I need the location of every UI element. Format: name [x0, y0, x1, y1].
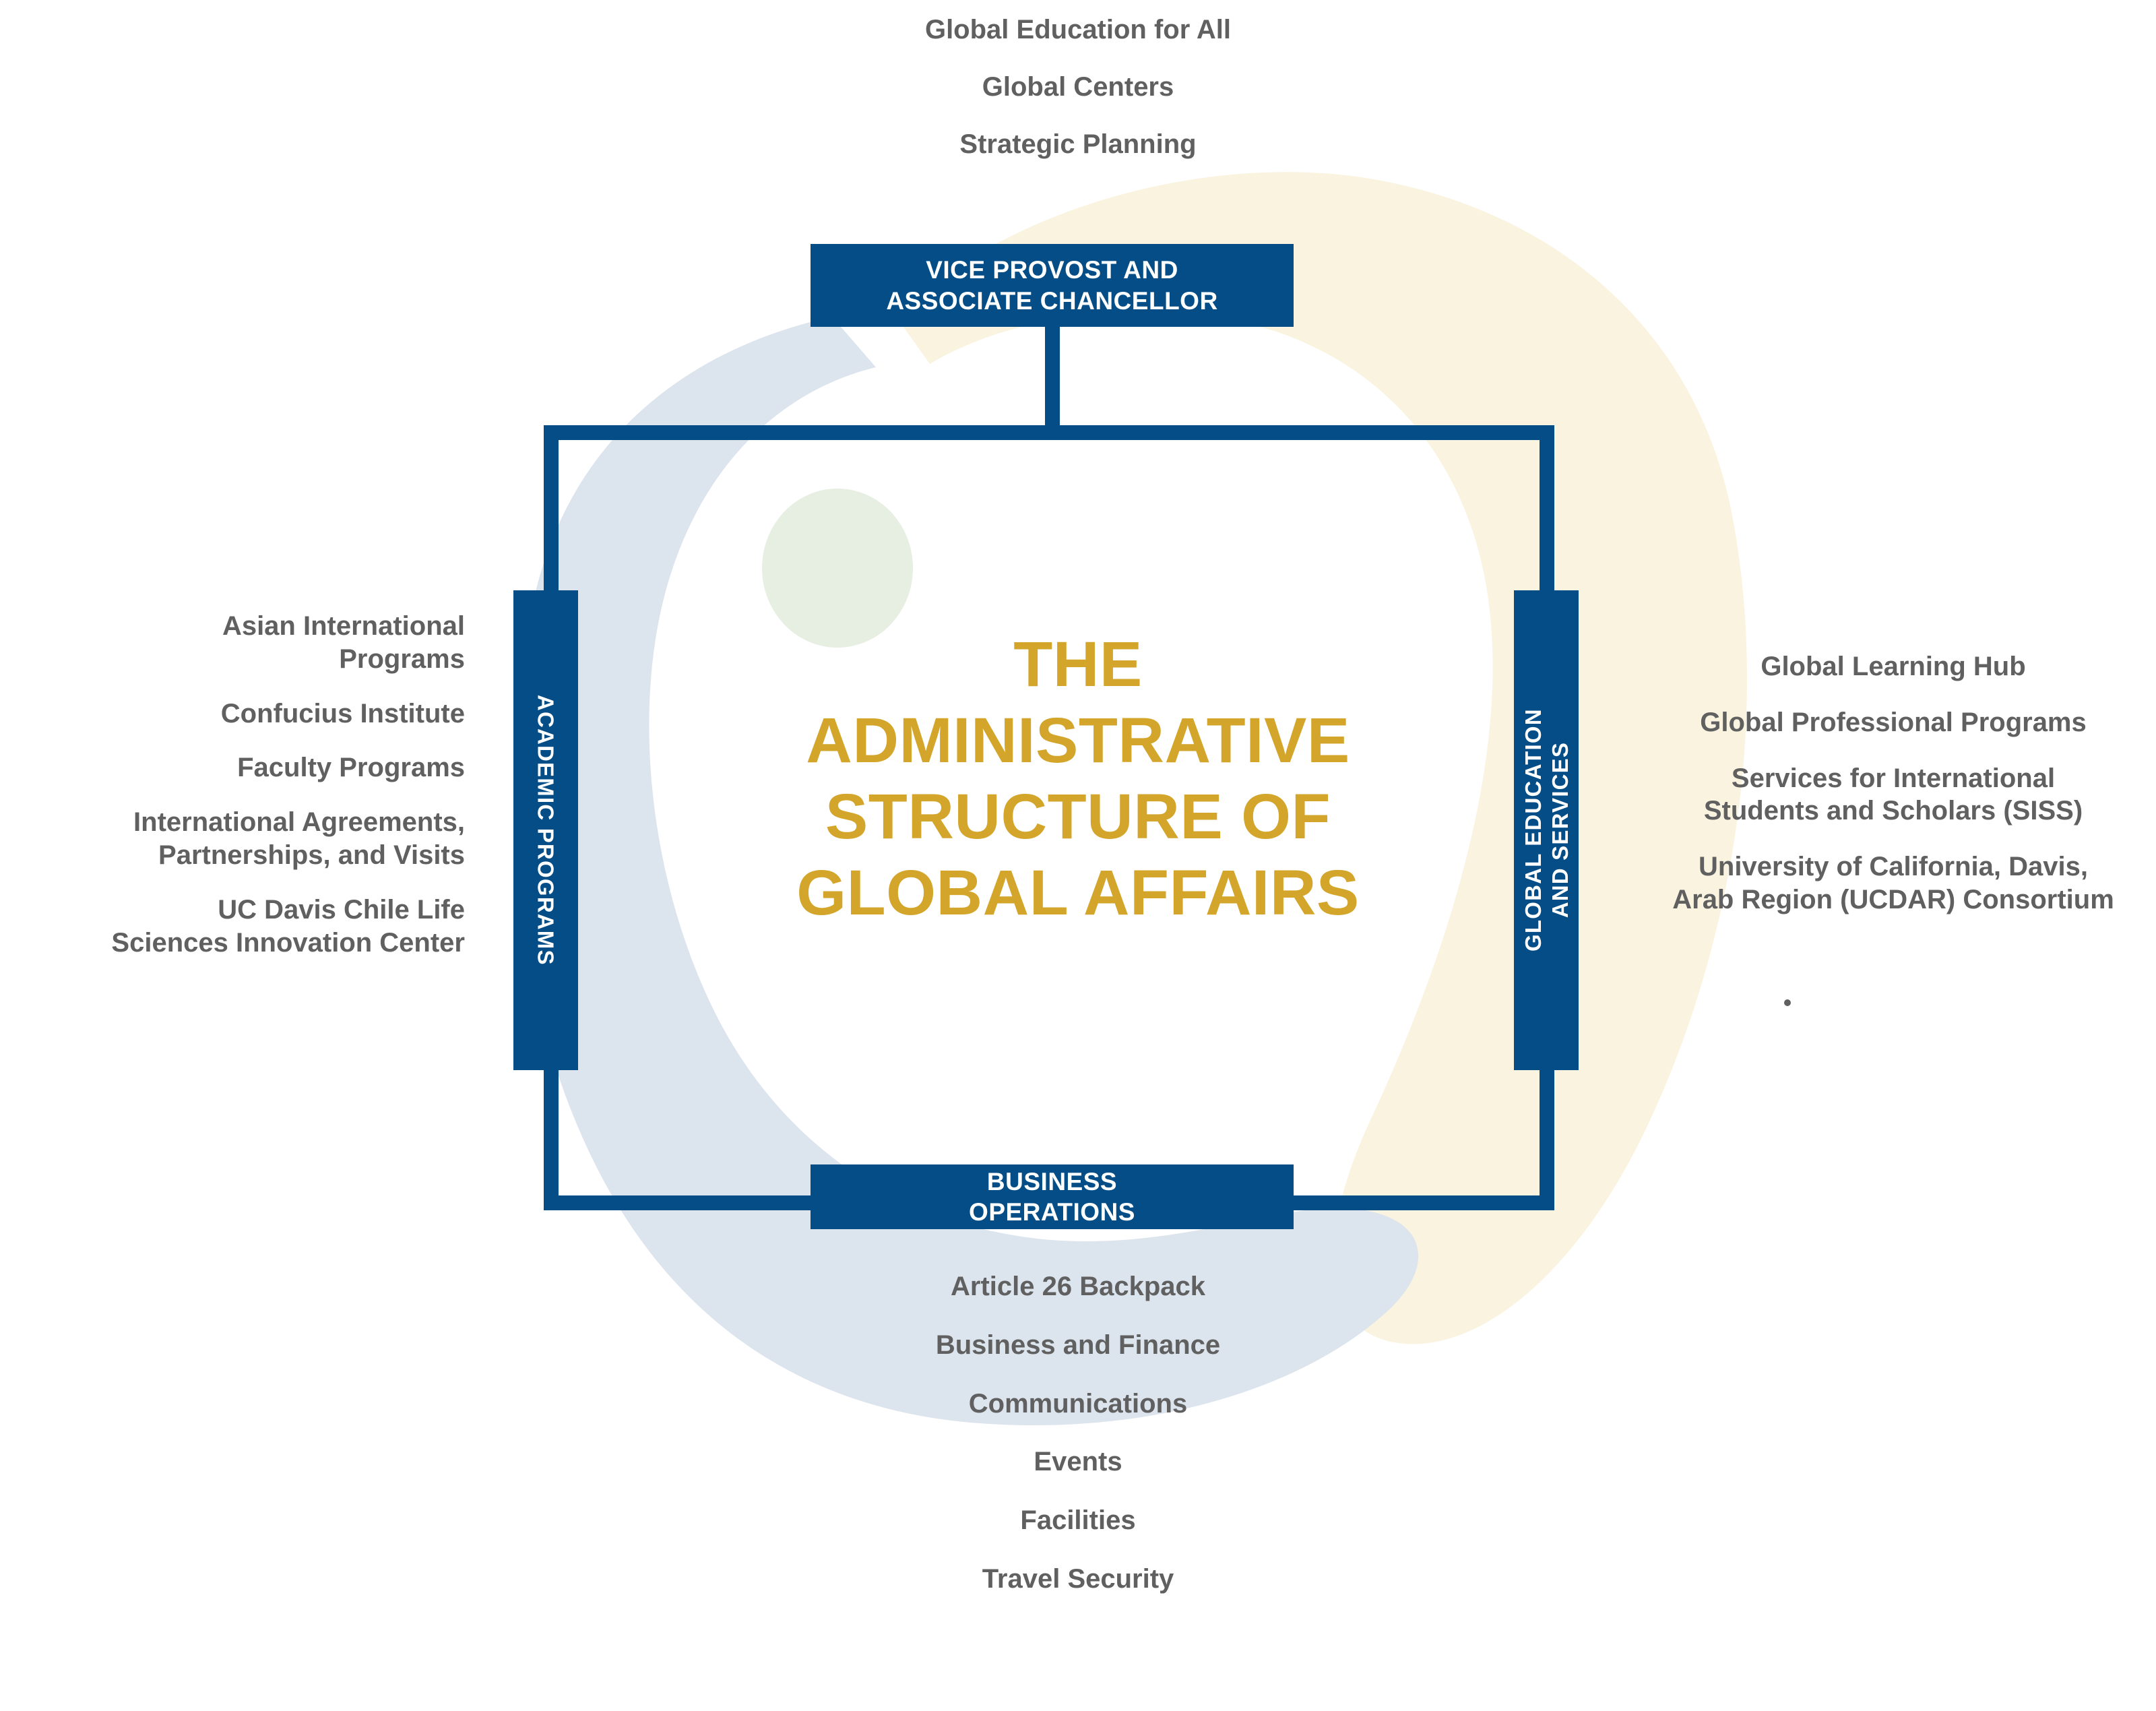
diagram-title-line1: THE — [714, 627, 1442, 703]
node-global-education-line1: GLOBAL EDUCATION — [1520, 709, 1545, 952]
node-global-education-and-services[interactable]: GLOBAL EDUCATION AND SERVICES — [1514, 590, 1579, 1070]
green-brush-shape — [762, 489, 913, 648]
bottom-branch-item: Communications — [714, 1388, 1442, 1421]
bottom-branch-item: Article 26 Backpack — [714, 1270, 1442, 1303]
top-branch-item: Global Education for All — [714, 13, 1442, 46]
diagram-title: THE ADMINISTRATIVE STRUCTURE OF GLOBAL A… — [714, 627, 1442, 931]
bottom-branch-list: Article 26 Backpack Business and Finance… — [714, 1270, 1442, 1621]
right-branch-item: University of California, Davis, Arab Re… — [1630, 850, 2156, 916]
top-branch-item: Global Centers — [714, 71, 1442, 104]
right-branch-item: Services for International Students and … — [1630, 762, 2156, 828]
right-branch-item: Global Learning Hub — [1630, 650, 2156, 683]
node-academic-programs-label: ACADEMIC PROGRAMS — [532, 695, 559, 966]
left-branch-item: Asian International Programs — [0, 610, 465, 676]
org-chart-diagram: VICE PROVOST AND ASSOCIATE CHANCELLOR BU… — [0, 0, 2156, 1711]
node-business-operations-label: BUSINESS OPERATIONS — [969, 1166, 1135, 1227]
diagram-title-line3: STRUCTURE OF — [714, 779, 1442, 855]
left-branch-item: Faculty Programs — [0, 751, 465, 784]
node-vice-provost-label: VICE PROVOST AND ASSOCIATE CHANCELLOR — [886, 255, 1217, 315]
stray-period-mark — [1784, 999, 1791, 1006]
left-branch-item: UC Davis Chile Life Sciences Innovation … — [0, 894, 465, 960]
bottom-branch-item: Business and Finance — [714, 1329, 1442, 1362]
node-business-operations[interactable]: BUSINESS OPERATIONS — [811, 1164, 1294, 1229]
connector-top-stub — [1045, 327, 1060, 427]
bottom-branch-item: Travel Security — [714, 1563, 1442, 1596]
diagram-title-line4: GLOBAL AFFAIRS — [714, 855, 1442, 931]
node-academic-programs[interactable]: ACADEMIC PROGRAMS — [513, 590, 578, 1070]
right-branch-item: Global Professional Programs — [1630, 706, 2156, 739]
node-business-operations-line2: OPERATIONS — [969, 1198, 1135, 1226]
left-branch-item: Confucius Institute — [0, 697, 465, 730]
node-global-education-and-services-label: GLOBAL EDUCATION AND SERVICES — [1519, 709, 1573, 952]
connector-top-rail — [544, 425, 1554, 440]
node-vice-provost-associate-chancellor[interactable]: VICE PROVOST AND ASSOCIATE CHANCELLOR — [811, 244, 1294, 327]
node-vice-provost-line1: VICE PROVOST AND — [926, 256, 1178, 284]
left-branch-list: Asian International Programs Confucius I… — [0, 610, 465, 981]
node-vice-provost-line2: ASSOCIATE CHANCELLOR — [886, 287, 1217, 315]
diagram-title-line2: ADMINISTRATIVE — [714, 703, 1442, 779]
bottom-branch-item: Facilities — [714, 1504, 1442, 1537]
node-business-operations-line1: BUSINESS — [987, 1168, 1117, 1195]
left-branch-item: International Agreements, Partnerships, … — [0, 806, 465, 872]
top-branch-list: Global Education for All Global Centers … — [714, 13, 1442, 185]
right-branch-list: Global Learning Hub Global Professional … — [1630, 650, 2156, 939]
bottom-branch-item: Events — [714, 1445, 1442, 1479]
node-global-education-line2: AND SERVICES — [1547, 742, 1572, 918]
top-branch-item: Strategic Planning — [714, 128, 1442, 161]
